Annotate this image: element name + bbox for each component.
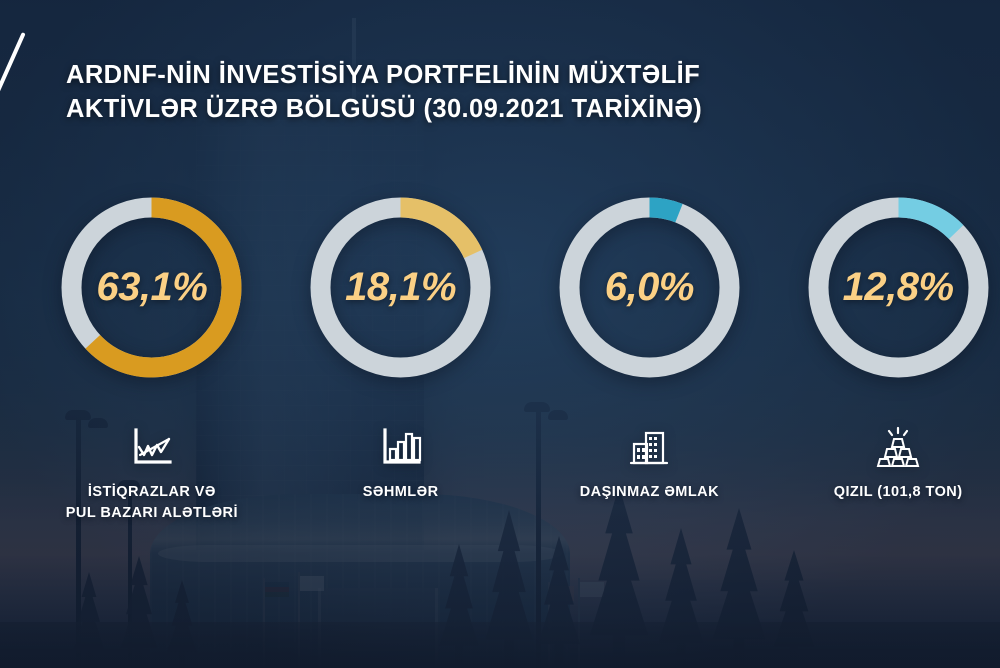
caption-bonds-line-1: İSTİQRAZLAR VƏ (50, 482, 254, 503)
caption-real-estate-line-1: DAŞINMAZ ƏMLAK (548, 482, 752, 503)
donut-percent-bonds: 63,1% (54, 190, 249, 385)
gold-bars-icon (876, 425, 920, 469)
caption-equities: SƏHMLƏR (299, 482, 503, 503)
donut-percent-real-estate: 6,0% (552, 190, 747, 385)
donut-chart-real-estate: 6,0% (552, 190, 747, 385)
donut-card-equities[interactable]: 18,1% SƏHMLƏR (299, 190, 503, 523)
line-chart-icon (130, 425, 174, 469)
infographic-content: ARDNF-NİN İNVESTİSİYA PORTFELİNİN MÜXTƏL… (0, 0, 1000, 668)
caption-gold: QIZIL (101,8 TON) (796, 482, 1000, 503)
diagonal-slash-icon (0, 32, 26, 99)
page-title: ARDNF-NİN İNVESTİSİYA PORTFELİNİN MÜXTƏL… (66, 58, 826, 126)
icon-container-equities (299, 407, 503, 469)
buildings-icon (627, 425, 671, 469)
donut-chart-bonds: 63,1% (54, 190, 249, 385)
donut-card-bonds-money-market[interactable]: 63,1% İSTİQRAZLAR VƏ PUL BAZARI ALƏTLƏRİ (50, 190, 254, 523)
title-line-1: ARDNF-NİN İNVESTİSİYA PORTFELİNİN MÜXTƏL… (66, 61, 700, 89)
caption-gold-line-1: QIZIL (101,8 TON) (796, 482, 1000, 503)
icon-container-real-estate (548, 407, 752, 469)
caption-bonds: İSTİQRAZLAR VƏ PUL BAZARI ALƏTLƏRİ (50, 482, 254, 523)
donut-percent-gold: 12,8% (801, 190, 996, 385)
icon-container-gold (796, 407, 1000, 469)
donut-card-real-estate[interactable]: 6,0% DAŞINMAZ ƏMLAK (548, 190, 752, 523)
title-line-2: AKTİVLƏR ÜZRƏ BÖLGÜSÜ (30.09.2021 TARİXİ… (66, 92, 826, 126)
donut-card-row: 63,1% İSTİQRAZLAR VƏ PUL BAZARI ALƏTLƏRİ (0, 190, 1000, 523)
donut-chart-equities: 18,1% (303, 190, 498, 385)
donut-percent-equities: 18,1% (303, 190, 498, 385)
donut-chart-gold: 12,8% (801, 190, 996, 385)
bar-chart-icon (379, 425, 423, 469)
icon-container-bonds (50, 407, 254, 469)
caption-real-estate: DAŞINMAZ ƏMLAK (548, 482, 752, 503)
donut-card-gold[interactable]: 12,8% QIZIL (101,8 TON) (796, 190, 1000, 523)
caption-bonds-line-2: PUL BAZARI ALƏTLƏRİ (50, 503, 254, 524)
caption-equities-line-1: SƏHMLƏR (299, 482, 503, 503)
